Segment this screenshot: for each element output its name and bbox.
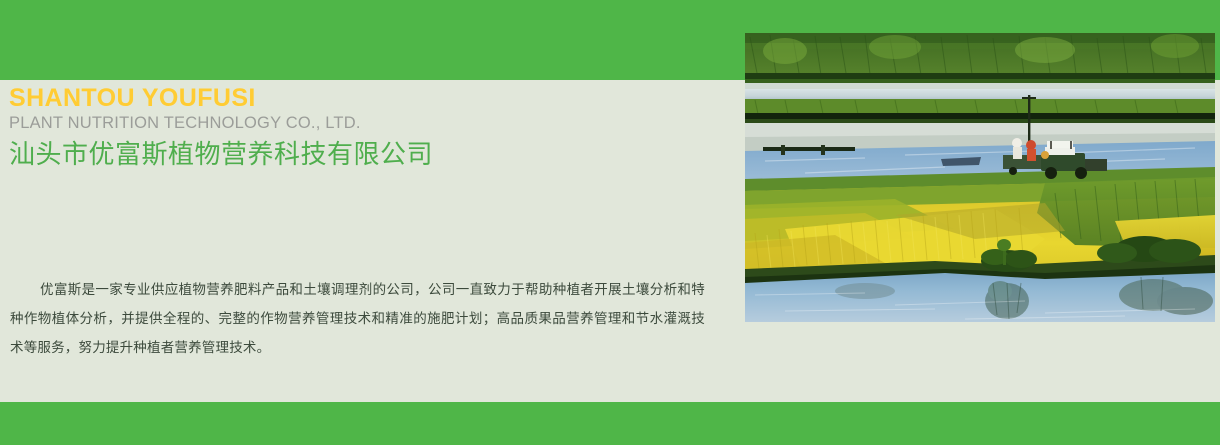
page-root: SHANTOU YOUFUSI PLANT NUTRITION TECHNOLO…: [0, 0, 1220, 445]
brand-block: SHANTOU YOUFUSI PLANT NUTRITION TECHNOLO…: [9, 85, 729, 172]
farmland-photo-artwork: [745, 33, 1215, 322]
company-name-chinese: 汕头市优富斯植物营养科技有限公司: [9, 138, 729, 172]
bottom-green-banner: [0, 402, 1220, 445]
farmland-photo: [745, 33, 1215, 322]
company-name-english: SHANTOU YOUFUSI: [9, 85, 729, 112]
company-description-paragraph: 优富斯是一家专业供应植物营养肥料产品和土壤调理剂的公司，公司一直致力于帮助种植者…: [10, 275, 705, 362]
company-subtitle-english: PLANT NUTRITION TECHNOLOGY CO., LTD.: [9, 113, 729, 134]
